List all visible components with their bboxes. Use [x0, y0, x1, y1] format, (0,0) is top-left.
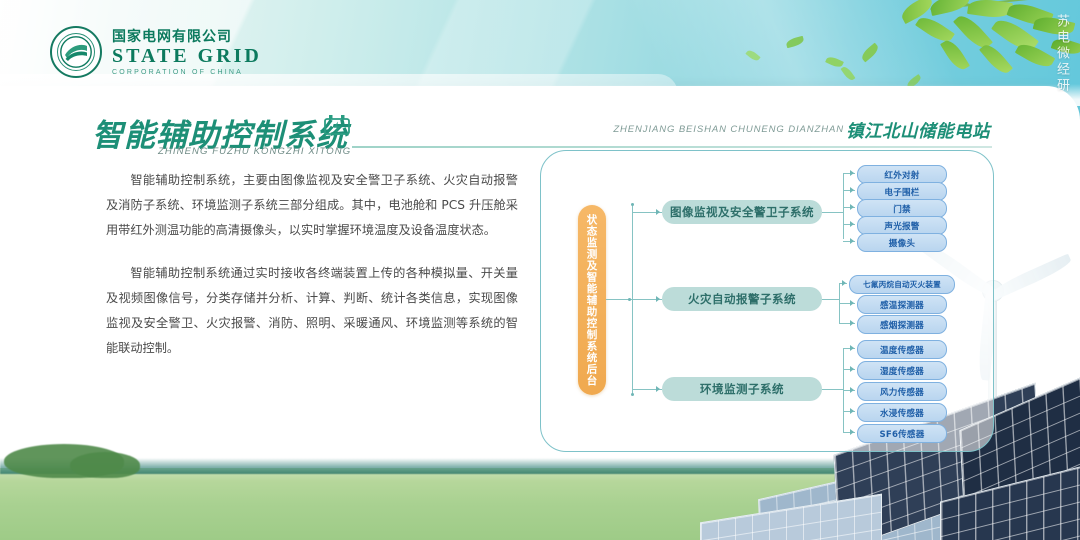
- arrow-icon: [850, 387, 854, 393]
- body-copy: 智能辅助控制系统，主要由图像监视及安全警卫子系统、火灾自动报警及消防子系统、环境…: [106, 168, 518, 379]
- logo-company-en: STATE GRID: [112, 46, 262, 66]
- arrow-icon: [850, 204, 854, 210]
- battery-bolt-icon: [322, 112, 352, 138]
- page-title-pinyin: ZHINENG FUZHU KONGZHI XITONG: [158, 146, 351, 157]
- arrow-icon: [850, 429, 854, 435]
- diagram-leaf-node: 风力传感器: [857, 382, 947, 401]
- arrow-icon: [850, 408, 854, 414]
- title-divider: [352, 146, 992, 148]
- diagram-root-node: 状态监测及智能辅助控制系统后台: [578, 205, 606, 395]
- paragraph-1: 智能辅助控制系统，主要由图像监视及安全警卫子系统、火灾自动报警及消防子系统、环境…: [106, 168, 518, 243]
- connector-dot: [628, 298, 631, 301]
- diagram-leaf-node: 温度传感器: [857, 340, 947, 359]
- arrow-icon: [850, 320, 854, 326]
- diagram-leaf-node: 七氟丙烷自动灭火装置: [849, 275, 955, 294]
- connector: [822, 389, 844, 390]
- connector: [822, 212, 844, 213]
- connector: [822, 299, 840, 300]
- arrow-icon: [850, 170, 854, 176]
- logo-company-sub: CORPORATION OF CHINA: [112, 69, 262, 76]
- diagram-branch-node: 火灾自动报警子系统: [662, 287, 822, 311]
- connector: [843, 173, 844, 239]
- arrow-icon: [850, 300, 854, 306]
- diagram-branch-node: 图像监视及安全警卫子系统: [662, 200, 822, 224]
- arrow-icon: [850, 221, 854, 227]
- diagram-leaf-node: 摄像头: [857, 233, 947, 252]
- arrow-icon: [656, 209, 660, 215]
- logo-company-cn: 国家电网有限公司: [112, 29, 262, 43]
- diagram-branch-node: 环境监测子系统: [662, 377, 822, 401]
- station-name-pinyin: ZHENJIANG BEISHAN CHUNENG DIANZHAN: [613, 124, 844, 135]
- connector-dot: [631, 393, 634, 396]
- connector-dot: [631, 203, 634, 206]
- diagram-leaf-node: 感温探测器: [857, 295, 947, 314]
- paragraph-2: 智能辅助控制系统通过实时接收各终端装置上传的各种模拟量、开关量及视频图像信号，分…: [106, 261, 518, 361]
- diagram-leaf-node: 感烟探测器: [857, 315, 947, 334]
- poster-page: 国家电网有限公司 STATE GRID CORPORATION OF CHINA…: [0, 0, 1080, 540]
- watermark-text: 苏电微经研: [1046, 14, 1072, 94]
- panel-top-edge: [0, 84, 1080, 106]
- diagram-leaf-node: SF6传感器: [857, 424, 947, 443]
- arrow-icon: [656, 386, 660, 392]
- diagram-leaf-node: 水浸传感器: [857, 403, 947, 422]
- arrow-icon: [850, 238, 854, 244]
- arrow-icon: [842, 280, 846, 286]
- state-grid-logo: 国家电网有限公司 STATE GRID CORPORATION OF CHINA: [50, 26, 262, 78]
- arrow-icon: [850, 366, 854, 372]
- state-grid-mark-icon: [50, 26, 102, 78]
- watermark-logo-dot: [1056, 92, 1070, 106]
- arrow-icon: [850, 187, 854, 193]
- station-name: 镇江北山储能电站: [846, 118, 990, 143]
- diagram-leaf-node: 湿度传感器: [857, 361, 947, 380]
- arrow-icon: [656, 296, 660, 302]
- tree-cluster: [70, 452, 140, 478]
- arrow-icon: [850, 345, 854, 351]
